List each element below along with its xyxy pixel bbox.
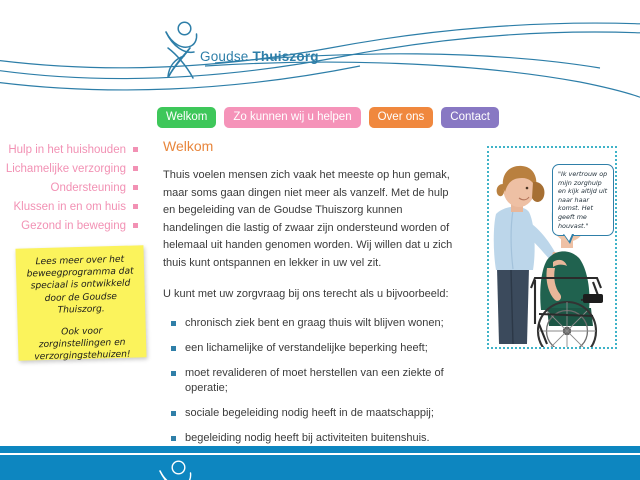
brand-name-light: Goudse [200, 49, 252, 64]
sticky-note-promo[interactable]: Lees meer over het beweegprogramma dat s… [15, 245, 146, 361]
list-item: sociale begeleiding nodig heeft in de ma… [163, 406, 463, 421]
list-item: chronisch ziek bent en graag thuis wilt … [163, 316, 463, 331]
sticky-note-line-1: Lees meer over het beweegprogramma dat s… [22, 253, 140, 317]
sidebar-item-label: Klussen in en om huis [13, 201, 126, 213]
footer-main-band [0, 455, 640, 480]
sidebar-item-gezond-in-beweging[interactable]: Gezond in beweging [0, 216, 146, 235]
intro-paragraph: Thuis voelen mensen zich vaak het meeste… [163, 167, 463, 273]
sidebar-menu: Hulp in het huishouden Lichamelijke verz… [0, 140, 146, 235]
sidebar-item-hulp-in-het-huishouden[interactable]: Hulp in het huishouden [0, 140, 146, 159]
list-item: een lichamelijke of verstandelijke beper… [163, 341, 463, 356]
brand-name: Goudse Thuiszorg [200, 49, 319, 64]
testimonial-photo-panel: "Ik vertrouw op mijn zorghulp en kijk al… [487, 146, 617, 349]
footer-top-band [0, 446, 640, 453]
page-title: Welkom [163, 138, 463, 154]
nav-item-helpen[interactable]: Zo kunnen wij u helpen [224, 107, 360, 128]
header-swoosh-decoration [0, 0, 640, 100]
nav-item-over-ons[interactable]: Over ons [369, 107, 434, 128]
brand-name-bold: Thuiszorg [252, 49, 318, 64]
running-figure-logo-white [150, 457, 210, 480]
testimonial-quote-text: "Ik vertrouw op mijn zorghulp en kijk al… [558, 170, 609, 230]
nav-item-contact[interactable]: Contact [441, 107, 499, 128]
square-bullet-icon [133, 223, 138, 228]
list-item: begeleiding nodig heeft bij activiteiten… [163, 431, 463, 446]
sidebar-item-label: Hulp in het huishouden [8, 144, 126, 156]
site-footer [0, 446, 640, 480]
sidebar-item-klussen-in-en-om-huis[interactable]: Klussen in en om huis [0, 197, 146, 216]
nav-item-welkom[interactable]: Welkom [157, 107, 216, 128]
sticky-note-line-2: Ook voor zorginstellingen en verzorgings… [24, 324, 141, 364]
main-content: Welkom Thuis voelen mensen zich vaak het… [163, 138, 463, 456]
sidebar-item-label: Ondersteuning [51, 182, 126, 194]
sidebar-item-label: Gezond in beweging [21, 220, 126, 232]
sidebar-item-lichamelijke-verzorging[interactable]: Lichamelijke verzorging [0, 159, 146, 178]
sidebar-item-ondersteuning[interactable]: Ondersteuning [0, 178, 146, 197]
list-lead-in-paragraph: U kunt met uw zorgvraag bij ons terecht … [163, 286, 463, 304]
sidebar-item-label: Lichamelijke verzorging [6, 163, 126, 175]
site-header: Goudse Thuiszorg [0, 0, 640, 100]
square-bullet-icon [133, 166, 138, 171]
services-bullet-list: chronisch ziek bent en graag thuis wilt … [163, 316, 463, 446]
square-bullet-icon [133, 147, 138, 152]
testimonial-quote-bubble: "Ik vertrouw op mijn zorghulp en kijk al… [552, 164, 614, 236]
page-root: Goudse Thuiszorg Welkom Zo kunnen wij u … [0, 0, 640, 480]
main-navigation: Welkom Zo kunnen wij u helpen Over ons C… [157, 107, 499, 128]
square-bullet-icon [133, 185, 138, 190]
square-bullet-icon [133, 204, 138, 209]
list-item: moet revalideren of moet herstellen van … [163, 366, 463, 396]
